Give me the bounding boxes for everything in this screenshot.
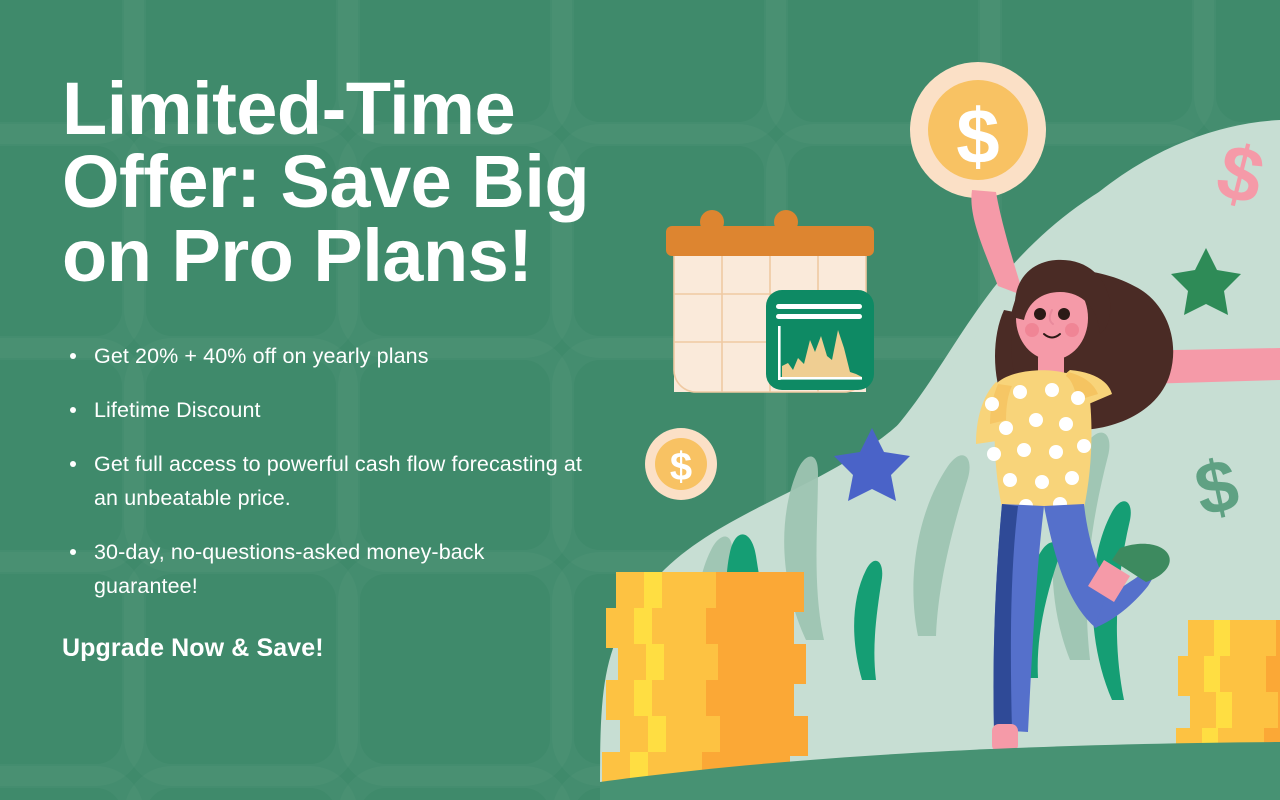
svg-text:$: $ (956, 92, 999, 180)
promo-banner: $ $ $ $ (0, 0, 1280, 800)
watermark-tile (338, 766, 572, 800)
benefits-list: Get 20% + 40% off on yearly plans Lifeti… (62, 340, 582, 604)
illustration-artwork: $ $ $ $ (600, 0, 1280, 800)
list-item: Get full access to powerful cash flow fo… (62, 448, 582, 516)
small-coin: $ (645, 428, 717, 500)
big-coin: $ (910, 62, 1046, 198)
upgrade-now-cta[interactable]: Upgrade Now & Save! (62, 634, 642, 663)
list-item: 30-day, no-questions-asked money-back gu… (62, 536, 582, 604)
page-title: Limited-Time Offer: Save Big on Pro Plan… (62, 72, 642, 292)
list-item: Lifetime Discount (62, 394, 582, 428)
list-item: Get 20% + 40% off on yearly plans (62, 340, 582, 374)
forecast-card (766, 290, 874, 390)
watermark-tile (124, 766, 358, 800)
svg-text:$: $ (670, 445, 692, 489)
watermark-tile (0, 766, 144, 800)
copy-column: Limited-Time Offer: Save Big on Pro Plan… (62, 72, 642, 663)
